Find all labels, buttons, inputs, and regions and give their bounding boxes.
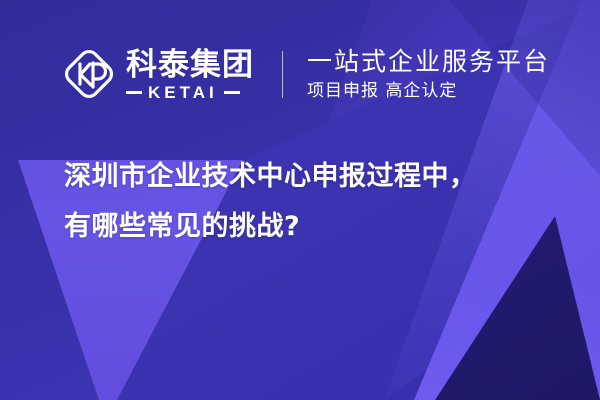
header-divider (282, 51, 283, 98)
logo-company-en-row: KETAI (126, 84, 254, 101)
headline: 深圳市企业技术中心申报过程中， 有哪些常见的挑战? (64, 152, 544, 252)
headline-line-1: 深圳市企业技术中心申报过程中， (64, 152, 544, 202)
logo-company-en: KETAI (148, 84, 218, 101)
brand-logo: 科泰集团 KETAI (62, 47, 254, 101)
banner-content: 科泰集团 KETAI 一站式企业服务平台 项目申报 高企认定 深圳市企业技术中心… (0, 0, 600, 400)
banner-header: 科泰集团 KETAI 一站式企业服务平台 项目申报 高企认定 (62, 38, 550, 110)
logo-company-cn: 科泰集团 (126, 48, 254, 82)
logo-dash-right-icon (224, 91, 240, 94)
logo-wordmark: 科泰集团 KETAI (126, 48, 254, 101)
ketai-diamond-monogram-icon (62, 47, 116, 101)
headline-line-2: 有哪些常见的挑战? (64, 202, 544, 252)
tagline-sub: 项目申报 高企认定 (307, 80, 550, 102)
promo-banner: 科泰集团 KETAI 一站式企业服务平台 项目申报 高企认定 深圳市企业技术中心… (0, 0, 600, 400)
tagline-main: 一站式企业服务平台 (307, 47, 550, 76)
tagline-block: 一站式企业服务平台 项目申报 高企认定 (307, 47, 550, 102)
logo-dash-left-icon (126, 91, 142, 94)
